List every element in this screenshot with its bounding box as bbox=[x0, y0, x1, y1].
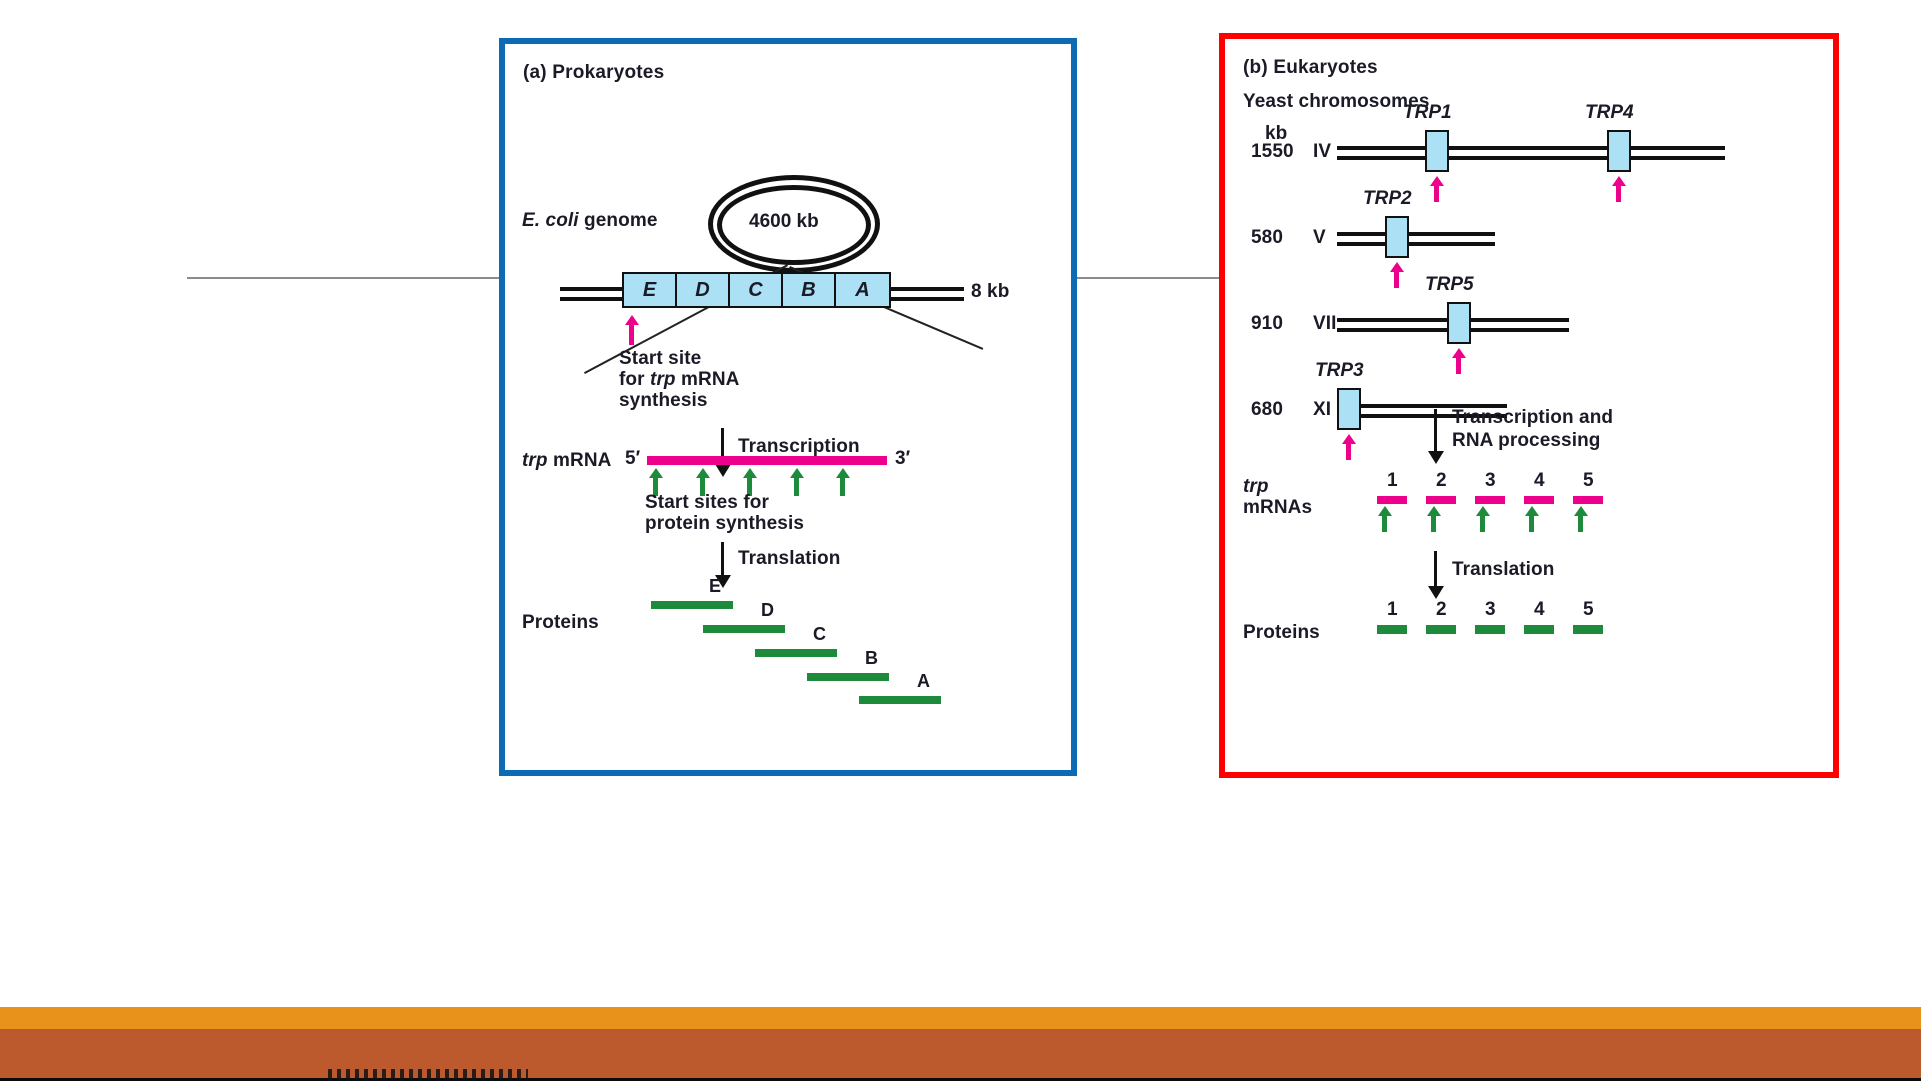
protein-bar-2 bbox=[1426, 625, 1456, 634]
transcription-arrow bbox=[715, 428, 731, 477]
footer-band-orange bbox=[0, 1007, 1921, 1029]
gene-box-trp4 bbox=[1607, 130, 1631, 172]
footer-band-terracotta bbox=[0, 1029, 1921, 1078]
transcription-rna-processing-arrow bbox=[1428, 409, 1444, 465]
trp-operon-gene-boxes: EDCBA bbox=[622, 272, 891, 308]
protein-bar-b bbox=[807, 673, 889, 681]
start-arrow-trp3 bbox=[1342, 434, 1356, 460]
panel-a-title: (a) Prokaryotes bbox=[523, 62, 664, 84]
operon-gene-e: E bbox=[624, 274, 677, 306]
protein-bar-c bbox=[755, 649, 837, 657]
protein-bar-1 bbox=[1377, 625, 1407, 634]
start-site-text-1: Start site bbox=[619, 348, 701, 369]
gene-name-trp5: TRP5 bbox=[1425, 274, 1474, 296]
panel-b-title: (b) Eukaryotes bbox=[1243, 57, 1378, 79]
mrna-bar-2 bbox=[1426, 496, 1456, 504]
chromosome-roman-vii: VII bbox=[1313, 313, 1337, 335]
protein-bar-4 bbox=[1524, 625, 1554, 634]
chromosome-kb-v: 580 bbox=[1251, 227, 1283, 249]
chromosome-roman-iv: IV bbox=[1313, 141, 1331, 163]
trp-mrna-label-rest: mRNA bbox=[548, 450, 612, 471]
protein-number-4: 4 bbox=[1534, 599, 1545, 621]
start-arrow-trp5 bbox=[1452, 348, 1466, 374]
dna-length-label: 8 kb bbox=[971, 281, 1009, 303]
protein-bar-5 bbox=[1573, 625, 1603, 634]
chromosome-dna-v bbox=[1337, 232, 1495, 246]
gene-name-trp1: TRP1 bbox=[1403, 102, 1452, 124]
mrna-start-arrow-3 bbox=[1476, 506, 1490, 532]
mrna-start-arrow-5 bbox=[1574, 506, 1588, 532]
translation-label-b: Translation bbox=[1452, 559, 1554, 581]
transcription-label: Transcription bbox=[738, 436, 860, 458]
protein-label-e: E bbox=[709, 576, 721, 597]
footer-glyph-row bbox=[328, 1069, 528, 1081]
trp-mrnas-label-rest: mRNAs bbox=[1243, 497, 1312, 519]
protein-start-sites-line-1: Start sites for bbox=[645, 492, 769, 514]
gene-name-trp2: TRP2 bbox=[1363, 188, 1412, 210]
start-site-line-3: synthesis bbox=[619, 390, 708, 412]
protein-bar-3 bbox=[1475, 625, 1505, 634]
gene-name-trp3: TRP3 bbox=[1315, 360, 1364, 382]
protein-label-d: D bbox=[761, 600, 774, 621]
ecoli-genome-label-rest: genome bbox=[579, 210, 658, 231]
gene-box-trp1 bbox=[1425, 130, 1449, 172]
translation-label: Translation bbox=[738, 548, 840, 570]
transcription-rna-processing-line-1: Transcription and bbox=[1452, 407, 1613, 429]
protein-bar-d bbox=[703, 625, 785, 633]
mrna-bar-4 bbox=[1524, 496, 1554, 504]
chromosome-dna-iv bbox=[1337, 146, 1725, 160]
mrna-number-4: 4 bbox=[1534, 470, 1545, 492]
start-arrow-trp2 bbox=[1390, 262, 1404, 288]
chromosome-kb-xi: 680 bbox=[1251, 399, 1283, 421]
ecoli-genome-label-italic: E. coli bbox=[522, 210, 579, 231]
proteins-label-b: Proteins bbox=[1243, 622, 1320, 644]
chromosome-roman-xi: XI bbox=[1313, 399, 1331, 421]
protein-label-b: B bbox=[865, 648, 878, 669]
protein-number-1: 1 bbox=[1387, 599, 1398, 621]
trp-mrna-bar bbox=[647, 456, 887, 465]
start-site-line-1: Start site bbox=[619, 348, 701, 370]
proteins-label: Proteins bbox=[522, 612, 599, 634]
protein-start-sites-line-2: protein synthesis bbox=[645, 513, 804, 535]
protein-number-3: 3 bbox=[1485, 599, 1496, 621]
trp-mrnas-label-italic: trp bbox=[1243, 476, 1269, 498]
panel-eukaryotes: (b) Eukaryotes Yeast chromosomes kb 1550… bbox=[1219, 33, 1839, 778]
translation-arrow-b bbox=[1428, 551, 1444, 599]
protein-start-arrow-4 bbox=[790, 468, 804, 496]
yeast-chromosomes-heading: Yeast chromosomes bbox=[1243, 91, 1430, 113]
ecoli-genome-label: E. coli genome bbox=[522, 210, 658, 232]
operon-gene-b: B bbox=[783, 274, 836, 306]
transcription-rna-processing-line-2: RNA processing bbox=[1452, 430, 1601, 452]
protein-number-5: 5 bbox=[1583, 599, 1594, 621]
five-prime-label: 5′ bbox=[625, 448, 640, 470]
trp-mrna-label-italic: trp bbox=[522, 450, 548, 471]
genome-size-label: 4600 kb bbox=[749, 211, 819, 233]
chromosome-kb-iv: 1550 bbox=[1251, 141, 1294, 163]
start-site-trp-italic: trp bbox=[650, 369, 676, 390]
chromosome-roman-v: V bbox=[1313, 227, 1326, 249]
mrna-number-5: 5 bbox=[1583, 470, 1594, 492]
mrna-start-arrow-2 bbox=[1427, 506, 1441, 532]
operon-gene-a: A bbox=[836, 274, 889, 306]
mrna-number-2: 2 bbox=[1436, 470, 1447, 492]
operon-gene-c: C bbox=[730, 274, 783, 306]
protein-label-c: C bbox=[813, 624, 826, 645]
protein-bar-e bbox=[651, 601, 733, 609]
three-prime-label: 3′ bbox=[895, 448, 910, 470]
mrna-start-arrow-4 bbox=[1525, 506, 1539, 532]
gene-box-trp5 bbox=[1447, 302, 1471, 344]
mrna-number-3: 3 bbox=[1485, 470, 1496, 492]
mrna-bar-5 bbox=[1573, 496, 1603, 504]
transcription-start-arrow bbox=[625, 315, 639, 345]
start-site-text-3: synthesis bbox=[619, 390, 708, 411]
gene-box-trp3 bbox=[1337, 388, 1361, 430]
mrna-number-1: 1 bbox=[1387, 470, 1398, 492]
dna-right-flank bbox=[891, 287, 964, 301]
operon-gene-d: D bbox=[677, 274, 730, 306]
gene-box-trp2 bbox=[1385, 216, 1409, 258]
panel-prokaryotes: (a) Prokaryotes E. coli genome 4600 kb t… bbox=[499, 38, 1077, 776]
start-site-line-2: for trp mRNA bbox=[619, 369, 740, 391]
start-arrow-trp4 bbox=[1612, 176, 1626, 202]
protein-start-arrow-5 bbox=[836, 468, 850, 496]
protein-label-a: A bbox=[917, 671, 930, 692]
mrna-start-arrow-1 bbox=[1378, 506, 1392, 532]
protein-bar-a bbox=[859, 696, 941, 704]
mrna-bar-3 bbox=[1475, 496, 1505, 504]
start-arrow-trp1 bbox=[1430, 176, 1444, 202]
chromosome-kb-vii: 910 bbox=[1251, 313, 1283, 335]
dna-left-flank bbox=[560, 287, 622, 301]
mrna-bar-1 bbox=[1377, 496, 1407, 504]
trp-mrna-label: trp mRNA bbox=[522, 450, 611, 472]
gene-name-trp4: TRP4 bbox=[1585, 102, 1634, 124]
protein-number-2: 2 bbox=[1436, 599, 1447, 621]
